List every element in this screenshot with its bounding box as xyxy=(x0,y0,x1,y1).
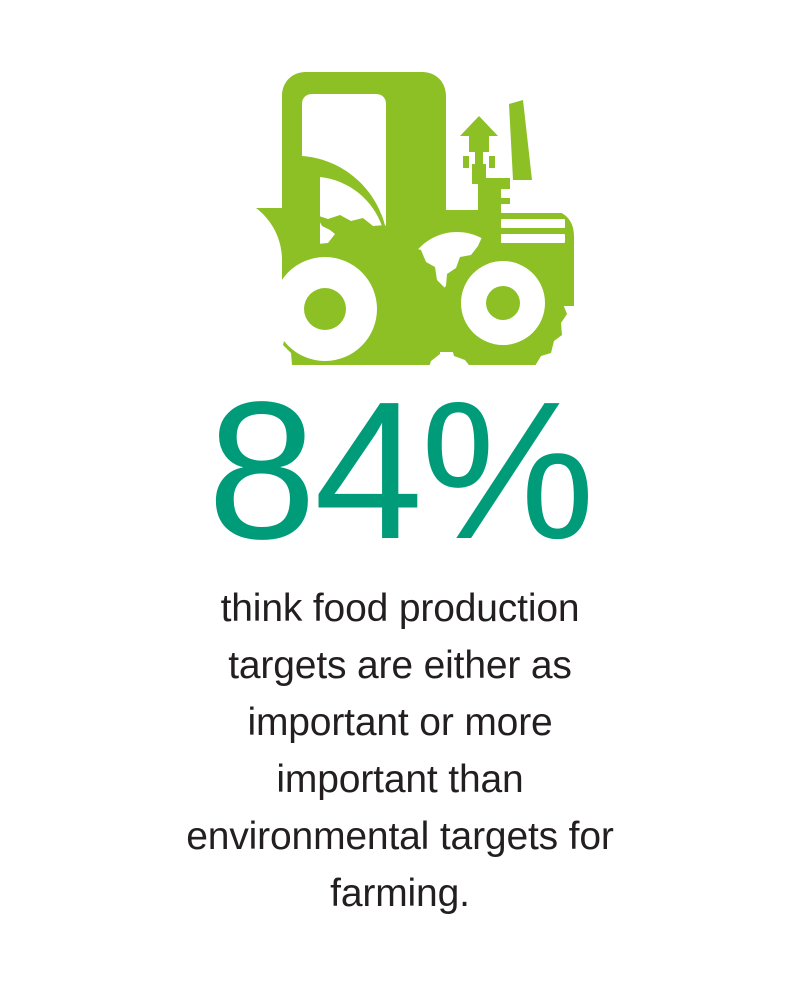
infographic-card: 84% think food production targets are ei… xyxy=(0,0,800,1000)
statement-line: think food production xyxy=(140,580,660,637)
tractor-icon xyxy=(210,60,590,365)
statement-line: important than xyxy=(140,751,660,808)
statement-line: important or more xyxy=(140,694,660,751)
tractor-cab-post xyxy=(396,96,416,230)
tractor-beacon-antenna xyxy=(460,116,498,184)
statement-line: targets are either as xyxy=(140,637,660,694)
statement-line: farming. xyxy=(140,865,660,922)
stat-percentage: 84% xyxy=(207,395,592,548)
tractor-body-group xyxy=(256,72,574,365)
statement-line: environmental targets for xyxy=(140,808,660,865)
statement-text: think food production targets are either… xyxy=(140,580,660,922)
tractor-exhaust-stack xyxy=(509,100,532,180)
